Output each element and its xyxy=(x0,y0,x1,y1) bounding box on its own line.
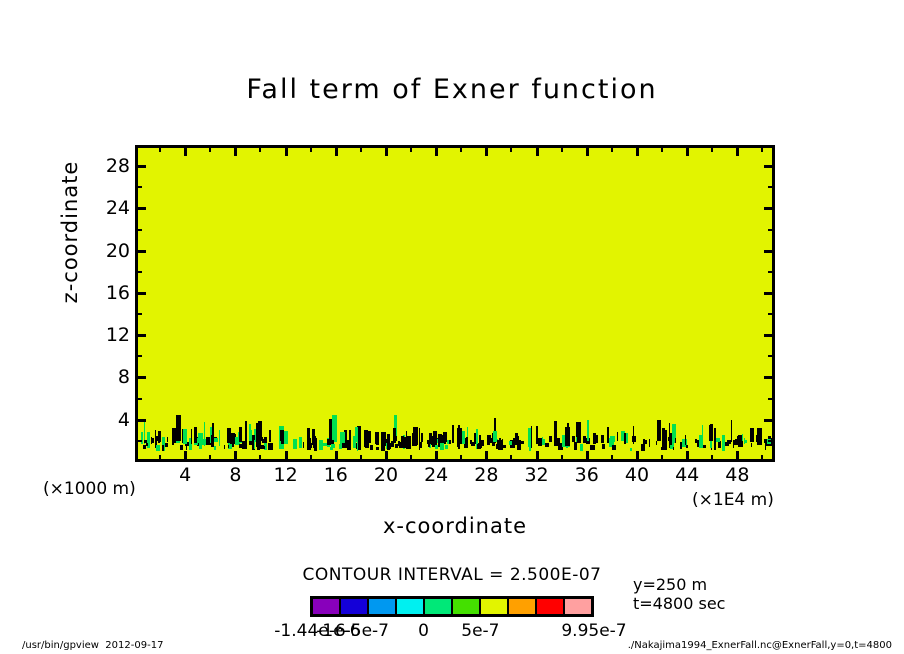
y-axis-minor-tick-right xyxy=(768,229,775,231)
x-axis-tick-top xyxy=(335,145,338,156)
contour-speckle xyxy=(531,426,532,448)
y-axis-tick xyxy=(135,165,146,168)
x-axis-minor-tick-top xyxy=(410,145,412,152)
x-axis-minor-tick xyxy=(259,455,261,462)
contour-speckle xyxy=(307,438,312,450)
x-axis-minor-tick-top xyxy=(259,145,261,152)
contour-speckle xyxy=(330,447,332,451)
contour-speckle xyxy=(457,428,461,445)
x-axis-tick xyxy=(385,451,388,462)
y-axis-minor-tick-right xyxy=(768,355,775,357)
contour-speckle xyxy=(172,428,176,441)
y-axis-minor-tick-right xyxy=(768,440,775,442)
contour-speckle xyxy=(339,444,341,449)
colorbar-tick-label: -5e-7 xyxy=(345,621,389,641)
contour-speckle xyxy=(520,441,524,445)
contour-speckle xyxy=(497,440,500,448)
colorbar-swatch xyxy=(479,599,507,614)
x-axis-minor-tick xyxy=(410,455,412,462)
x-axis-tick-label: 28 xyxy=(474,464,498,486)
colorbar-swatch xyxy=(451,599,479,614)
colorbar-tick-label: 5e-7 xyxy=(461,621,499,641)
x-axis-minor-tick xyxy=(360,455,362,462)
contour-speckle xyxy=(716,438,720,442)
contour-speckle xyxy=(445,445,448,449)
contour-speckle xyxy=(427,440,432,444)
contour-speckle xyxy=(657,420,662,441)
footer-dataset-text: ./Nakajima1994_ExnerFall.nc@ExnerFall,y=… xyxy=(628,640,892,651)
contour-speckle xyxy=(155,430,156,445)
x-axis-minor-tick xyxy=(510,455,512,462)
x-axis-tick-label: 4 xyxy=(179,464,191,486)
x-axis-minor-tick-top xyxy=(360,145,362,152)
contour-speckle xyxy=(697,440,699,446)
contour-speckle xyxy=(376,447,379,450)
contour-speckle xyxy=(299,437,303,449)
y-axis-minor-tick-right xyxy=(768,186,775,188)
x-axis-tick-top xyxy=(184,145,187,156)
contour-speckle xyxy=(342,443,347,448)
contour-noise-band xyxy=(138,411,772,451)
contour-speckle xyxy=(587,420,589,441)
contour-speckle xyxy=(703,445,706,448)
y-axis-tick-right xyxy=(764,334,775,337)
x-axis-tick-top xyxy=(686,145,689,156)
contour-speckle xyxy=(672,433,674,447)
contour-speckle xyxy=(656,441,657,446)
colorbar-swatch xyxy=(395,599,423,614)
contour-speckle xyxy=(665,430,668,449)
contour-speckle xyxy=(249,441,253,445)
y-axis-minor-tick-right xyxy=(768,313,775,315)
contour-speckle xyxy=(202,439,207,445)
contour-speckle xyxy=(545,443,549,446)
contour-speckle xyxy=(702,425,703,442)
contour-speckle xyxy=(549,436,552,442)
contour-speckle xyxy=(710,424,713,441)
x-axis-title: x-coordinate xyxy=(135,514,775,538)
plot-area xyxy=(135,145,775,462)
contour-speckle xyxy=(330,440,334,444)
contour-speckle xyxy=(419,428,420,450)
colorbar-swatch xyxy=(423,599,451,614)
contour-speckle xyxy=(555,438,560,446)
x-axis-tick-label: 36 xyxy=(575,464,599,486)
contour-speckle xyxy=(558,447,563,450)
contour-speckle xyxy=(686,445,688,448)
contour-speckle xyxy=(502,445,506,449)
contour-speckle xyxy=(394,435,396,443)
contour-speckle xyxy=(303,442,304,448)
x-axis-minor-tick-top xyxy=(561,145,563,152)
contour-speckle xyxy=(602,444,605,449)
x-axis-minor-tick xyxy=(611,455,613,462)
contour-speckle xyxy=(413,438,417,443)
colorbar-swatch xyxy=(563,599,591,614)
contour-speckle xyxy=(167,437,168,443)
contour-speckle xyxy=(727,440,730,445)
x-axis-tick xyxy=(435,451,438,462)
x-axis-tick-label: 12 xyxy=(273,464,297,486)
annotation-line: y=250 m xyxy=(633,575,725,594)
y-axis-tick-right xyxy=(764,376,775,379)
contour-speckle xyxy=(388,443,391,449)
contour-speckle xyxy=(214,446,216,450)
contour-speckle xyxy=(583,436,586,443)
x-axis-minor-tick-top xyxy=(661,145,663,152)
y-axis-tick-label: 4 xyxy=(118,409,130,431)
x-axis-tick-top xyxy=(586,145,589,156)
contour-interval-label: CONTOUR INTERVAL = 2.500E-07 xyxy=(0,565,904,585)
contour-speckle xyxy=(375,432,379,444)
contour-speckle xyxy=(347,443,349,449)
contour-speckle xyxy=(440,443,444,450)
y-axis-tick-label: 8 xyxy=(118,366,130,388)
contour-speckle xyxy=(487,438,492,442)
contour-speckle xyxy=(406,437,410,445)
contour-speckle xyxy=(470,440,473,443)
colorbar-swatch xyxy=(339,599,367,614)
x-axis-tick xyxy=(234,451,237,462)
x-axis-tick-top xyxy=(636,145,639,156)
x-axis-tick-top xyxy=(435,145,438,156)
contour-speckle xyxy=(144,440,147,443)
x-axis-tick-top xyxy=(285,145,288,156)
contour-speckle xyxy=(610,436,615,443)
contour-speckle xyxy=(370,445,373,450)
contour-speckle xyxy=(447,440,449,444)
contour-speckle xyxy=(239,427,242,442)
contour-speckle xyxy=(151,437,152,444)
y-axis-minor-tick-right xyxy=(768,271,775,273)
contour-speckle xyxy=(269,430,271,441)
contour-speckle xyxy=(742,434,744,442)
y-axis-minor-tick xyxy=(135,440,142,442)
x-axis-minor-tick xyxy=(711,455,713,462)
contour-speckle xyxy=(364,430,368,447)
y-axis-tick xyxy=(135,419,146,422)
x-axis-tick-top xyxy=(385,145,388,156)
y-axis-tick-right xyxy=(764,250,775,253)
contour-speckle xyxy=(479,435,481,447)
x-axis-minor-tick-top xyxy=(159,145,161,152)
contour-speckle xyxy=(262,439,266,442)
contour-speckle xyxy=(710,441,712,447)
contour-speckle xyxy=(680,442,682,449)
x-axis-minor-tick-top xyxy=(510,145,512,152)
y-axis-tick xyxy=(135,292,146,295)
x-axis-tick xyxy=(636,451,639,462)
contour-speckle xyxy=(268,443,273,450)
contour-speckle xyxy=(349,430,351,449)
contour-speckle xyxy=(596,435,598,444)
contour-speckle xyxy=(146,443,148,446)
contour-speckle xyxy=(245,421,248,441)
contour-speckle xyxy=(607,427,609,442)
y-axis-tick-right xyxy=(764,292,775,295)
x-axis-tick xyxy=(736,451,739,462)
x-axis-tick-label: 16 xyxy=(324,464,348,486)
contour-speckle xyxy=(260,446,265,449)
contour-speckle xyxy=(632,436,635,443)
x-axis-minor-tick xyxy=(761,455,763,462)
contour-speckle xyxy=(284,431,288,444)
x-axis-tick-label: 40 xyxy=(625,464,649,486)
x-axis-minor-tick-top xyxy=(611,145,613,152)
y-axis-title: z-coordinate xyxy=(58,132,82,332)
y-axis-tick-right xyxy=(764,207,775,210)
contour-speckle xyxy=(601,435,604,444)
colorbar xyxy=(310,596,594,617)
y-axis-tick xyxy=(135,376,146,379)
x-axis-tick-label: 44 xyxy=(675,464,699,486)
contour-speckle xyxy=(194,427,197,443)
y-axis-minor-tick xyxy=(135,229,142,231)
contour-speckle xyxy=(254,440,256,450)
contour-speckle xyxy=(612,445,617,450)
x-axis-tick xyxy=(686,451,689,462)
contour-speckle xyxy=(750,428,754,442)
contour-speckle xyxy=(421,433,423,442)
contour-speckle xyxy=(649,439,650,446)
contour-speckle xyxy=(381,446,383,450)
y-axis-minor-tick xyxy=(135,271,142,273)
contour-speckle xyxy=(744,440,747,443)
y-axis-tick-label: 28 xyxy=(106,155,130,177)
contour-speckle xyxy=(578,437,581,443)
contour-speckle xyxy=(156,445,160,451)
contour-speckle xyxy=(567,423,568,443)
contour-speckle xyxy=(757,428,762,445)
y-axis-tick xyxy=(135,207,146,210)
contour-speckle xyxy=(722,435,725,450)
y-axis-unit-label: (×1000 m) xyxy=(43,479,136,499)
contour-speckle xyxy=(466,437,468,448)
y-axis-minor-tick xyxy=(135,313,142,315)
y-axis-tick-label: 20 xyxy=(106,240,130,262)
contour-speckle xyxy=(166,443,167,447)
x-axis-tick-top xyxy=(736,145,739,156)
x-axis-minor-tick xyxy=(561,455,563,462)
x-axis-minor-tick xyxy=(661,455,663,462)
y-axis-minor-tick xyxy=(135,398,142,400)
contour-speckle xyxy=(213,438,218,442)
contour-speckle xyxy=(180,445,183,450)
contour-speckle xyxy=(643,439,645,446)
contour-speckle xyxy=(675,438,676,443)
contour-speckle xyxy=(452,425,454,443)
annotation-line: t=4800 sec xyxy=(633,594,725,613)
x-axis-unit-label: (×1E4 m) xyxy=(692,490,774,510)
contour-speckle xyxy=(509,441,512,445)
contour-speckle xyxy=(319,440,323,450)
colorbar-tick-label: 0 xyxy=(418,621,429,641)
contour-speckle xyxy=(443,432,447,442)
contour-speckle xyxy=(714,443,716,447)
y-axis-tick-label: 16 xyxy=(106,282,130,304)
x-axis-minor-tick-top xyxy=(761,145,763,152)
contour-speckle xyxy=(355,427,358,442)
contour-speckle xyxy=(212,423,214,447)
contour-speckle xyxy=(197,438,200,442)
x-axis-tick-top xyxy=(485,145,488,156)
x-axis-tick-label: 24 xyxy=(424,464,448,486)
contour-speckle xyxy=(183,429,188,444)
contour-speckle xyxy=(538,438,542,447)
x-axis-minor-tick-top xyxy=(209,145,211,152)
x-axis-minor-tick-top xyxy=(711,145,713,152)
colorbar-swatch xyxy=(535,599,563,614)
x-axis-tick-label: 48 xyxy=(725,464,749,486)
y-axis-tick-label: 24 xyxy=(106,197,130,219)
colorbar-swatch xyxy=(507,599,535,614)
x-axis-tick xyxy=(536,451,539,462)
x-axis-tick xyxy=(586,451,589,462)
contour-speckle xyxy=(590,445,595,450)
colorbar-swatch xyxy=(313,599,339,614)
x-axis-minor-tick xyxy=(310,455,312,462)
contour-speckle xyxy=(669,423,670,448)
contour-speckle xyxy=(580,444,583,450)
contour-speckle xyxy=(731,420,732,442)
contour-speckle xyxy=(624,433,626,444)
contour-speckle xyxy=(235,437,238,444)
contour-speckle xyxy=(357,441,358,450)
colorbar-tick-label: 9.95e-7 xyxy=(561,621,626,641)
contour-speckle xyxy=(433,431,437,447)
contour-speckle xyxy=(398,443,399,447)
colorbar-swatch xyxy=(367,599,395,614)
contour-speckle xyxy=(685,435,686,445)
contour-speckle xyxy=(172,440,174,445)
footer-command-text: /usr/bin/gpview 2012-09-17 xyxy=(22,640,163,651)
y-axis-minor-tick xyxy=(135,355,142,357)
contour-speckle xyxy=(751,443,753,447)
page-title: Fall term of Exner function xyxy=(0,74,904,105)
plot-annotation: y=250 mt=4800 sec xyxy=(633,575,725,613)
x-axis-tick xyxy=(335,451,338,462)
contour-speckle xyxy=(227,428,231,443)
x-axis-minor-tick-top xyxy=(460,145,462,152)
x-axis-tick-label: 32 xyxy=(524,464,548,486)
y-axis-minor-tick-right xyxy=(768,398,775,400)
contour-speckle xyxy=(340,432,345,444)
contour-speckle xyxy=(162,445,163,451)
x-axis-tick-label: 20 xyxy=(374,464,398,486)
x-axis-minor-tick xyxy=(460,455,462,462)
contour-speckle xyxy=(293,439,297,449)
x-axis-minor-tick-top xyxy=(310,145,312,152)
x-axis-minor-tick xyxy=(159,455,161,462)
x-axis-tick-top xyxy=(234,145,237,156)
contour-speckle xyxy=(617,432,618,441)
x-axis-minor-tick xyxy=(209,455,211,462)
y-axis-tick-label: 12 xyxy=(106,324,130,346)
contour-speckle xyxy=(572,436,576,442)
x-axis-tick xyxy=(485,451,488,462)
x-axis-tick-top xyxy=(536,145,539,156)
x-axis-tick xyxy=(285,451,288,462)
y-axis-minor-tick xyxy=(135,186,142,188)
x-axis-tick xyxy=(184,451,187,462)
contour-speckle xyxy=(528,428,531,447)
contour-speckle xyxy=(176,415,181,441)
contour-speckle xyxy=(219,430,220,446)
contour-speckle xyxy=(314,436,316,443)
contour-speckle xyxy=(228,445,229,448)
contour-speckle xyxy=(574,442,577,449)
contour-speckle xyxy=(257,443,260,450)
x-axis-tick-label: 8 xyxy=(229,464,241,486)
y-axis-tick-right xyxy=(764,165,775,168)
contour-speckle xyxy=(191,429,192,444)
contour-speckle xyxy=(368,431,371,443)
contour-speckle xyxy=(239,444,243,448)
y-axis-tick xyxy=(135,250,146,253)
contour-speckle xyxy=(353,440,354,445)
y-axis-tick-right xyxy=(764,419,775,422)
contour-speckle xyxy=(630,448,632,451)
contour-speckle xyxy=(224,445,225,449)
y-axis-tick xyxy=(135,334,146,337)
